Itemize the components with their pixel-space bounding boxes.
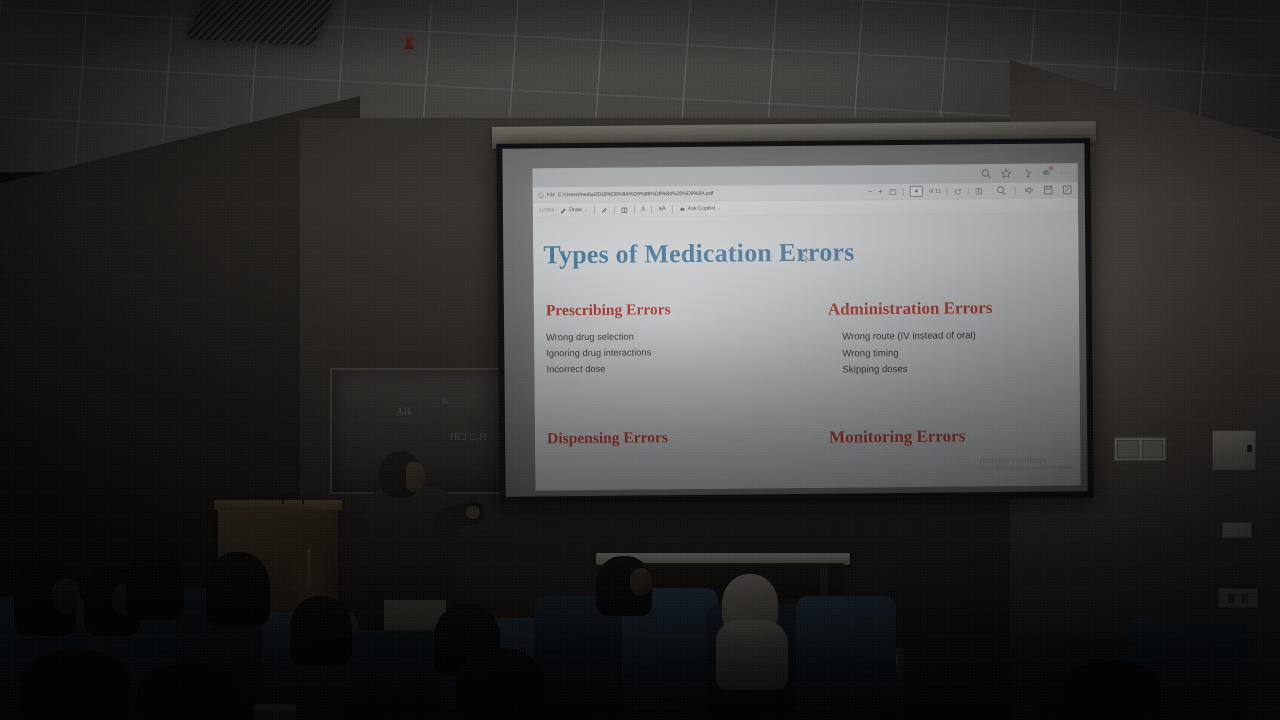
draw-tool-label: Draw xyxy=(569,207,582,213)
search-icon[interactable] xyxy=(980,168,991,179)
page-total-label: of 11 xyxy=(929,188,941,194)
bullet-item: Wrong route (IV instead of oral) xyxy=(842,328,993,346)
projected-browser-window[interactable]: ··· File C:/Users/media/2019%D9%8A%D9%88… xyxy=(533,163,1081,490)
divider xyxy=(634,206,635,214)
pen-icon xyxy=(560,207,567,214)
bullet-item: Incorrect dose xyxy=(546,361,671,378)
page-layout-icon[interactable] xyxy=(975,187,983,195)
url-text[interactable]: C:/Users/media/2019%D9%8A%D9%88%D9%84%20… xyxy=(558,190,713,197)
whiteboard: Alk is HCl C₃H xyxy=(330,368,520,494)
thermostat-display-left xyxy=(1117,440,1139,458)
text-size-tool[interactable]: aA xyxy=(658,206,665,212)
windows-activation-watermark: Activate Windows Go to Settings to activ… xyxy=(979,454,1072,472)
chevron-down-icon[interactable]: ⌄ xyxy=(584,207,588,213)
section-administration-errors: Administration Errors Wrong route (IV in… xyxy=(828,298,993,379)
divider xyxy=(651,205,652,213)
copilot-icon xyxy=(679,206,686,213)
section-heading: Monitoring Errors xyxy=(829,426,965,447)
outlet-socket-left xyxy=(1228,594,1235,603)
zoom-out-button[interactable]: − xyxy=(868,188,873,196)
bullet-item: Wrong timing xyxy=(842,345,993,363)
mouse-cursor-icon xyxy=(801,251,809,262)
pdf-right-tools xyxy=(996,184,1073,196)
read-aloud-tool[interactable]: A xyxy=(641,206,645,212)
bullet-item: Ignoring drug interactions xyxy=(546,345,671,362)
whiteboard-note: is xyxy=(442,396,448,406)
search-icon[interactable] xyxy=(996,185,1007,196)
divider xyxy=(672,205,673,213)
fit-page-icon[interactable] xyxy=(889,188,897,196)
copilot-icon[interactable] xyxy=(1040,168,1051,179)
whiteboard-note: HCl C₃H xyxy=(450,432,487,443)
bullet-item: Skipping doses xyxy=(842,361,993,379)
section-dispensing-errors: Dispensing Errors xyxy=(547,429,668,448)
zoom-in-button[interactable]: + xyxy=(878,188,883,196)
select-tool[interactable]: \u2304 xyxy=(539,207,554,213)
thermostat-panel[interactable] xyxy=(1114,437,1166,461)
chevron-down-icon[interactable]: ⌄ xyxy=(717,206,721,212)
ask-copilot-label: Ask Copilot xyxy=(688,206,715,212)
section-heading: Dispensing Errors xyxy=(547,429,668,448)
divider xyxy=(594,206,595,214)
read-aloud-icon[interactable] xyxy=(1024,185,1035,196)
watermark-line-2: Go to Settings to activate Windows xyxy=(979,465,1072,472)
save-icon[interactable] xyxy=(1043,185,1054,196)
section-monitoring-errors: Monitoring Errors xyxy=(829,426,965,447)
light-switch[interactable] xyxy=(1222,522,1252,538)
highlighter-icon xyxy=(601,206,608,213)
book-icon xyxy=(621,206,628,213)
ask-copilot-tool[interactable]: Ask Copilot ⌄ xyxy=(679,205,722,212)
wall-control-panel[interactable] xyxy=(1212,430,1256,470)
pdf-page-controls: − + 4 of 11 xyxy=(868,185,983,197)
read-aloud-tool-label: A xyxy=(641,206,645,212)
url-scheme-label: File xyxy=(547,192,555,198)
favorite-star-icon[interactable] xyxy=(1000,168,1011,179)
watermark-line-1: Activate Windows xyxy=(979,454,1072,465)
address-chip[interactable]: File C:/Users/media/2019%D9%8A%D9%88%D9%… xyxy=(538,190,714,198)
divider xyxy=(614,206,615,214)
outlet-socket-right xyxy=(1241,594,1248,603)
power-outlet xyxy=(1218,588,1258,608)
browser-overflow-menu[interactable]: ··· xyxy=(1060,168,1072,178)
page-view-tool[interactable] xyxy=(621,206,628,213)
projector-screen-surface: ··· File C:/Users/media/2019%D9%8A%D9%88… xyxy=(502,143,1087,497)
info-icon xyxy=(538,192,544,198)
highlight-tool[interactable] xyxy=(601,206,608,213)
collections-icon[interactable] xyxy=(1020,168,1031,179)
divider xyxy=(1015,186,1016,194)
section-prescribing-errors: Prescribing Errors Wrong drug selection … xyxy=(546,301,671,378)
section-heading: Prescribing Errors xyxy=(546,301,671,320)
section-bullets: Wrong route (IV instead of oral) Wrong t… xyxy=(842,328,993,379)
divider xyxy=(947,187,948,195)
section-bullets: Wrong drug selection Ignoring drug inter… xyxy=(546,329,671,378)
lecture-hall-scene: Alk is HCl C₃H xyxy=(0,0,1280,720)
thermostat-display-right xyxy=(1142,440,1164,458)
annotate-icon[interactable] xyxy=(1062,184,1073,195)
draw-tool[interactable]: Draw ⌄ xyxy=(560,206,588,213)
text-size-label: aA xyxy=(658,206,665,212)
bullet-item: Wrong drug selection xyxy=(546,329,671,346)
rotate-icon[interactable] xyxy=(954,187,962,195)
divider xyxy=(903,187,904,195)
pdf-slide-page: Types of Medication Errors Prescribing E… xyxy=(533,213,1081,490)
divider xyxy=(968,187,969,195)
page-number-input[interactable]: 4 xyxy=(910,186,923,197)
section-heading: Administration Errors xyxy=(828,298,993,320)
whiteboard-note: Alk xyxy=(396,405,413,418)
